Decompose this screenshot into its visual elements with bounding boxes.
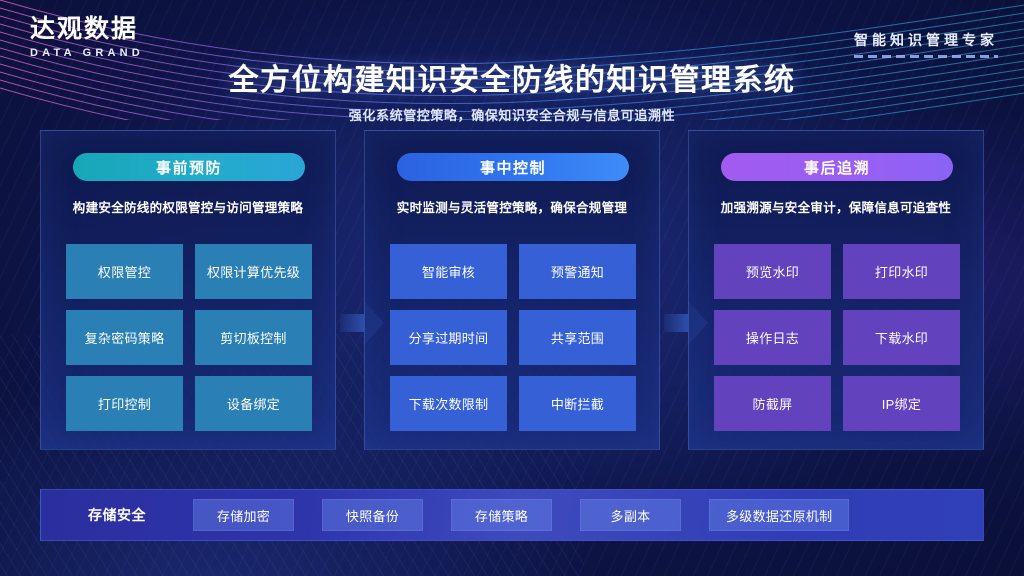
storage-item[interactable]: 存储加密: [193, 499, 294, 531]
page-subtitle: 强化系统管控策略，确保知识安全合规与信息可追溯性: [0, 105, 1024, 124]
feature-cell[interactable]: 设备绑定: [195, 376, 312, 431]
feature-cell[interactable]: IP绑定: [843, 376, 960, 431]
brand-tagline: 智能知识管理专家: [854, 30, 998, 58]
feature-cell[interactable]: 分享过期时间: [390, 310, 507, 365]
feature-cell[interactable]: 操作日志: [714, 310, 831, 365]
page-title: 全方位构建知识安全防线的知识管理系统: [0, 55, 1024, 99]
stage-title-traceability: 事后追溯: [721, 153, 953, 181]
feature-cell[interactable]: 中断拦截: [519, 376, 636, 431]
feature-cell[interactable]: 防截屏: [714, 376, 831, 431]
feature-grid-traceability: 预览水印 打印水印 操作日志 下载水印 防截屏 IP绑定: [714, 244, 960, 431]
stage-columns: 事前预防 构建安全防线的权限管控与访问管理策略 权限管控 权限计算优先级 复杂密…: [40, 130, 984, 450]
stage-description-control: 实时监测与灵活管控策略，确保合规管理: [375, 197, 649, 216]
tagline-text: 智能知识管理专家: [854, 30, 998, 50]
storage-item[interactable]: 快照备份: [322, 499, 423, 531]
stage-panel-control: 事中控制 实时监测与灵活管控策略，确保合规管理 智能审核 预警通知 分享过期时间…: [364, 130, 660, 450]
storage-item-list: 存储加密 快照备份 存储策略 多副本 多级数据还原机制: [193, 499, 849, 531]
feature-cell[interactable]: 权限计算优先级: [195, 244, 312, 299]
storage-item[interactable]: 多副本: [580, 499, 681, 531]
feature-cell[interactable]: 打印控制: [66, 376, 183, 431]
stage-panel-traceability: 事后追溯 加强溯源与安全审计，保障信息可追查性 预览水印 打印水印 操作日志 下…: [688, 130, 984, 450]
feature-cell[interactable]: 预览水印: [714, 244, 831, 299]
stage-description-prevention: 构建安全防线的权限管控与访问管理策略: [51, 197, 325, 216]
storage-security-bar: 存储安全 存储加密 快照备份 存储策略 多副本 多级数据还原机制: [40, 489, 984, 541]
feature-cell[interactable]: 智能审核: [390, 244, 507, 299]
feature-cell[interactable]: 复杂密码策略: [66, 310, 183, 365]
stage-description-traceability: 加强溯源与安全审计，保障信息可追查性: [699, 197, 973, 216]
feature-cell[interactable]: 打印水印: [843, 244, 960, 299]
stage-title-control: 事中控制: [397, 153, 629, 181]
feature-cell[interactable]: 共享范围: [519, 310, 636, 365]
feature-cell[interactable]: 下载次数限制: [390, 376, 507, 431]
brand-logo: 达观数据 DATA GRAND: [30, 16, 144, 59]
storage-item[interactable]: 存储策略: [451, 499, 552, 531]
feature-cell[interactable]: 权限管控: [66, 244, 183, 299]
storage-bar-label: 存储安全: [41, 505, 193, 525]
feature-cell[interactable]: 下载水印: [843, 310, 960, 365]
stage-panel-prevention: 事前预防 构建安全防线的权限管控与访问管理策略 权限管控 权限计算优先级 复杂密…: [40, 130, 336, 450]
feature-grid-control: 智能审核 预警通知 分享过期时间 共享范围 下载次数限制 中断拦截: [390, 244, 636, 431]
feature-grid-prevention: 权限管控 权限计算优先级 复杂密码策略 剪切板控制 打印控制 设备绑定: [66, 244, 312, 431]
brand-name-cn: 达观数据: [30, 16, 144, 44]
feature-cell[interactable]: 预警通知: [519, 244, 636, 299]
slide-canvas: 达观数据 DATA GRAND 智能知识管理专家 全方位构建知识安全防线的知识管…: [0, 0, 1024, 576]
storage-item[interactable]: 多级数据还原机制: [709, 499, 849, 531]
feature-cell[interactable]: 剪切板控制: [195, 310, 312, 365]
stage-title-prevention: 事前预防: [73, 153, 305, 181]
